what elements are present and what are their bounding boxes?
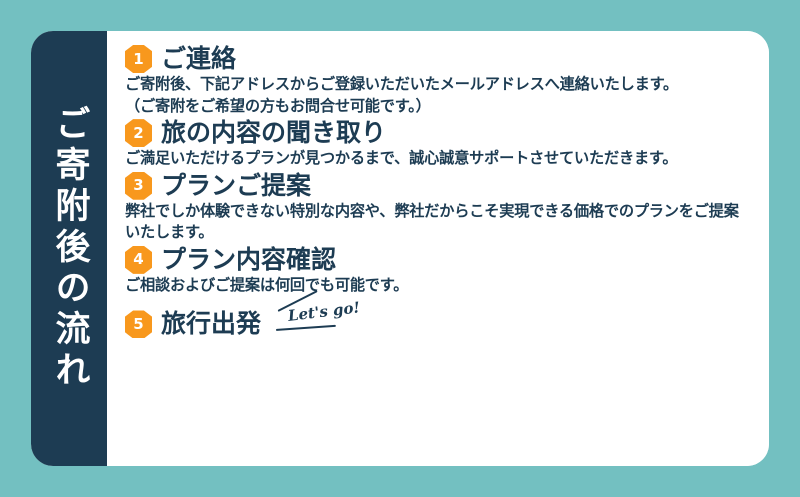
step-header-2: 2 旅の内容の聞き取り [125, 119, 751, 147]
white-card: ご寄附後の流れ 1 ご連絡 ご寄附後、下記アドレスからご登録いただいたメールアド… [31, 31, 769, 466]
step-item-5: 5 旅行出発 Let's go! [125, 298, 751, 339]
step-title-1: ご連絡 [161, 45, 236, 73]
step-header-5: 5 旅行出発 Let's go! [125, 298, 751, 338]
step-body-1: ご寄附後、下記アドレスからご登録いただいたメールアドレスへ連絡いたします。（ご寄… [125, 74, 751, 117]
steps-content-panel: 1 ご連絡 ご寄附後、下記アドレスからご登録いただいたメールアドレスへ連絡いたし… [107, 31, 769, 466]
step-item-2: 2 旅の内容の聞き取り ご満足いただけるプランが見つかるまで、誠心誠意サポートさ… [125, 119, 751, 170]
step-body-3: 弊社でしか体験できない特別な内容や、弊社だからこそ実現できる価格でのプランをご提… [125, 201, 751, 244]
step-number-badge-icon-4: 4 [125, 246, 152, 274]
step-number-badge-icon-3: 3 [125, 172, 152, 200]
step-item-4: 4 プラン内容確認 ご相談およびご提案は何回でも可能です。 [125, 246, 751, 297]
step-header-4: 4 プラン内容確認 [125, 246, 751, 274]
step-title-5: 旅行出発 [161, 310, 261, 338]
sidebar-title: ご寄附後の流れ [52, 105, 87, 392]
step-title-4: プラン内容確認 [161, 246, 336, 274]
poster-canvas: ご寄附後の流れ 1 ご連絡 ご寄附後、下記アドレスからご登録いただいたメールアド… [0, 0, 800, 497]
annotation-stroke-bottom-icon [276, 325, 336, 331]
step-number-badge-icon-2: 2 [125, 119, 152, 147]
step-title-2: 旅の内容の聞き取り [161, 119, 386, 147]
step-body-4: ご相談およびご提案は何回でも可能です。 [125, 275, 751, 297]
step-title-3: プランご提案 [161, 172, 311, 200]
step-number-badge-icon-5: 5 [125, 310, 152, 338]
sidebar-vertical-title-panel: ご寄附後の流れ [31, 31, 107, 466]
annotation-text: Let's go! [287, 299, 361, 326]
step-number-badge-icon-1: 1 [125, 45, 152, 73]
step-item-3: 3 プランご提案 弊社でしか体験できない特別な内容や、弊社だからこそ実現できる価… [125, 172, 751, 244]
handwritten-annotation: Let's go! [272, 298, 364, 338]
step-item-1: 1 ご連絡 ご寄附後、下記アドレスからご登録いただいたメールアドレスへ連絡いたし… [125, 45, 751, 117]
step-header-1: 1 ご連絡 [125, 45, 751, 73]
step-body-2: ご満足いただけるプランが見つかるまで、誠心誠意サポートさせていただきます。 [125, 148, 751, 170]
step-header-3: 3 プランご提案 [125, 172, 751, 200]
